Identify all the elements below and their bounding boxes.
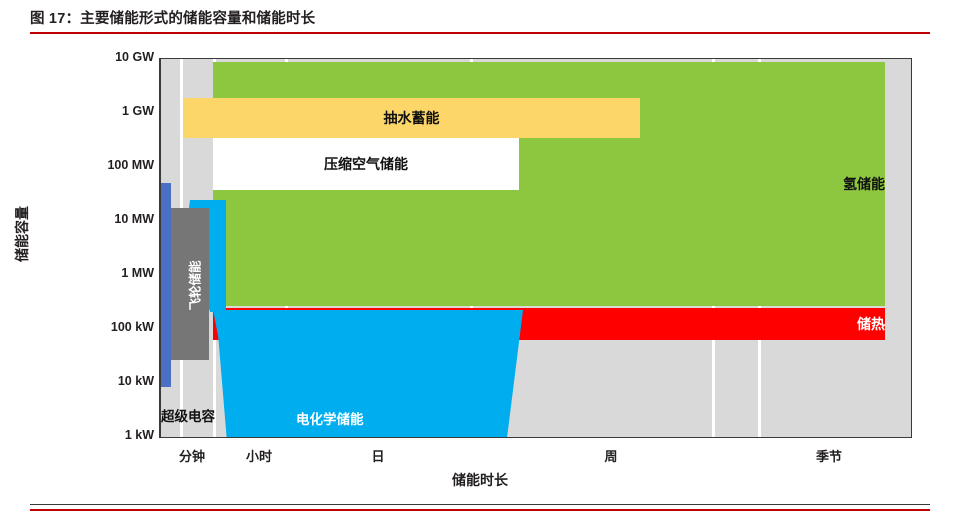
y-tick-6: 10 kW (76, 374, 154, 388)
band-electrochemical-lower (213, 310, 523, 438)
band-pumped-hydro-label: 抽水蓄能 (183, 98, 640, 138)
y-tick-3: 10 MW (76, 212, 154, 226)
y-axis-line (159, 58, 161, 438)
title-divider (30, 32, 930, 34)
x-tick-2: 日 (371, 446, 384, 465)
footer-accent-rule (30, 509, 930, 511)
x-tick-3: 周 (604, 446, 617, 465)
chart-figure: 10 GW 1 GW 100 MW 10 MW 1 MW 100 kW 10 k… (0, 36, 960, 496)
y-tick-5: 100 kW (76, 320, 154, 334)
x-tick-4: 季节 (816, 446, 842, 465)
y-tick-2: 100 MW (76, 158, 154, 172)
footer-divider (30, 504, 930, 505)
y-tick-7: 1 kW (76, 428, 154, 442)
band-caes-label: 压缩空气储能 (213, 138, 519, 190)
band-pumped-hydro[interactable]: 抽水蓄能 (183, 98, 640, 138)
band-supercapacitor[interactable] (161, 183, 171, 387)
band-caes[interactable]: 压缩空气储能 (213, 138, 519, 190)
band-supercapacitor-label: 超级电容 (161, 405, 215, 425)
figure-header: 图 17：主要储能形式的储能容量和储能时长 (0, 0, 960, 36)
y-axis-ticks: 10 GW 1 GW 100 MW 10 MW 1 MW 100 kW 10 k… (70, 58, 154, 438)
page-title: 图 17：主要储能形式的储能容量和储能时长 (30, 7, 315, 28)
band-flywheel-label: 飞轮储能 (185, 238, 204, 334)
x-axis-title: 储能时长 (0, 470, 960, 490)
x-tick-0: 分钟 (179, 446, 205, 465)
band-electrochemical-label: 电化学储能 (296, 408, 364, 428)
y-tick-4: 1 MW (76, 266, 154, 280)
y-tick-0: 10 GW (76, 50, 154, 64)
y-tick-1: 1 GW (76, 104, 154, 118)
x-tick-1: 小时 (246, 446, 272, 465)
y-axis-title: 储能容量 (12, 206, 32, 262)
plot-area: 氢储能 抽水蓄能 压缩空气储能 储热 飞轮储能 电化学储能 (160, 58, 912, 438)
